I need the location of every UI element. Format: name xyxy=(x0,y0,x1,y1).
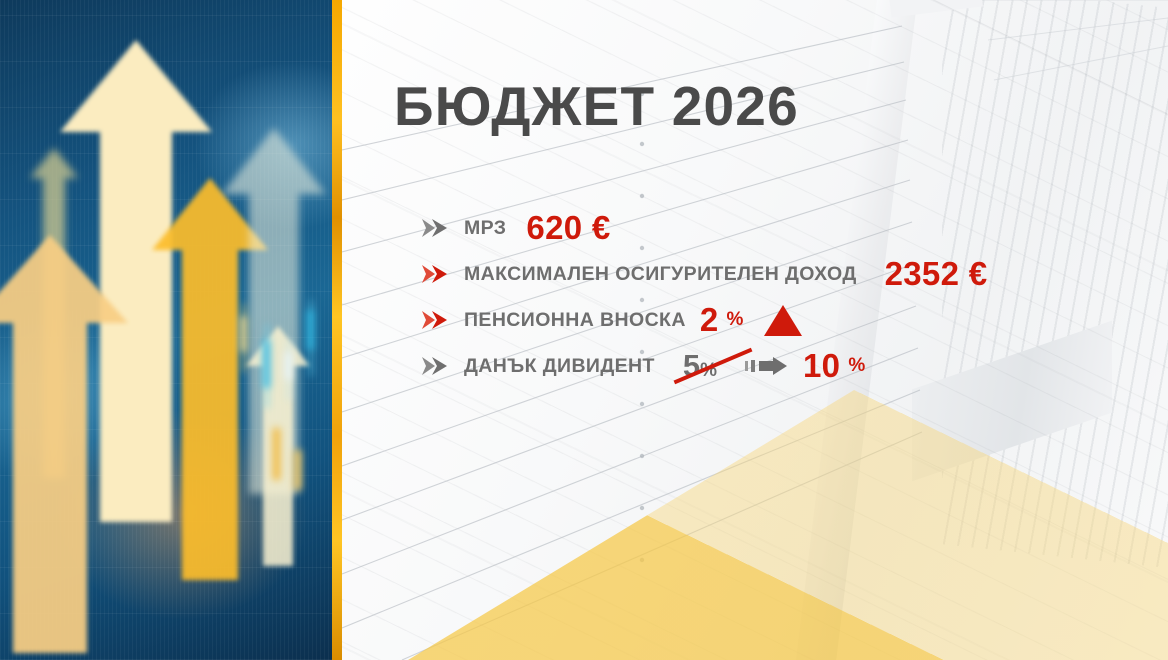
list-item-value: 2352 € xyxy=(885,255,988,293)
double-chevron-right-icon xyxy=(420,217,454,239)
list-item-value-unit: % xyxy=(727,309,744,331)
list-item: ПЕНСИОННА ВНОСКА 2 % xyxy=(420,297,1160,343)
list-item-label: МРЗ xyxy=(464,217,506,240)
list-item-label: МАКСИМАЛЕН ОСИГУРИТЕЛЕН ДОХОД xyxy=(464,263,857,286)
double-chevron-right-icon xyxy=(420,355,454,377)
motion-arrow-right-icon xyxy=(745,356,789,376)
slide-root: БЮДЖЕТ 2026 МРЗ 620 € xyxy=(0,0,1168,660)
triangle-up-icon xyxy=(764,305,802,336)
gold-divider xyxy=(332,0,342,660)
new-value: 10 xyxy=(803,347,840,385)
page-title: БЮДЖЕТ 2026 xyxy=(394,74,799,138)
list-item-value: 2 xyxy=(700,301,719,339)
right-content-panel: БЮДЖЕТ 2026 МРЗ 620 € xyxy=(342,0,1168,660)
double-chevron-right-icon xyxy=(420,263,454,285)
new-value-unit: % xyxy=(848,355,865,377)
double-chevron-right-icon xyxy=(420,309,454,331)
left-image-panel xyxy=(0,0,332,660)
list-item: МРЗ 620 € xyxy=(420,205,1160,251)
list-item: ДАНЪК ДИВИДЕНТ 5% 10 % xyxy=(420,343,1160,389)
old-value: 5% xyxy=(683,348,717,384)
budget-items-list: МРЗ 620 € МАКСИМАЛЕН ОСИГУРИТЕЛЕН ДОХОД … xyxy=(420,205,1160,389)
arrow-up-icon xyxy=(0,235,128,653)
candlestick-chart-icon xyxy=(230,300,332,500)
list-item-label: ПЕНСИОННА ВНОСКА xyxy=(464,309,686,332)
list-item-value: 620 € xyxy=(526,209,610,247)
list-item-label: ДАНЪК ДИВИДЕНТ xyxy=(464,355,655,378)
list-item: МАКСИМАЛЕН ОСИГУРИТЕЛЕН ДОХОД 2352 € xyxy=(420,251,1160,297)
